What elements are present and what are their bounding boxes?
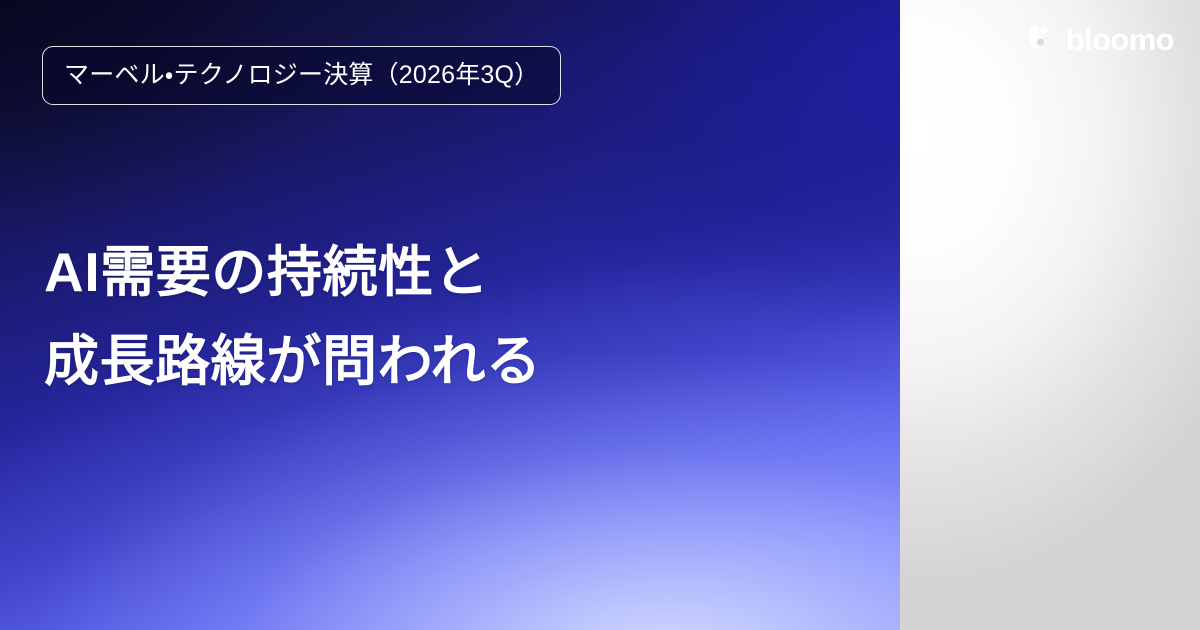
category-badge: マーベル・テクノロジー決算（2026年3Q） [42,46,561,105]
bloomo-mark-icon [1027,25,1057,55]
og-card: マーベル・テクノロジー決算（2026年3Q） AI需要の持続性と 成長路線が問わ… [0,0,1200,630]
headline: AI需要の持続性と 成長路線が問われる [44,228,864,406]
category-badge-label: マーベル・テクノロジー決算（2026年3Q） [64,63,539,88]
headline-line-1: AI需要の持続性と [44,228,864,317]
bloomo-wordmark: bloomo [1066,24,1174,55]
left-gradient-panel: マーベル・テクノロジー決算（2026年3Q） AI需要の持続性と 成長路線が問わ… [0,0,900,630]
right-panel-shading [900,0,1200,630]
headline-line-2: 成長路線が問われる [44,317,864,406]
bloomo-logo: bloomo [1027,24,1174,55]
right-logo-panel: bloomo [900,0,1200,630]
